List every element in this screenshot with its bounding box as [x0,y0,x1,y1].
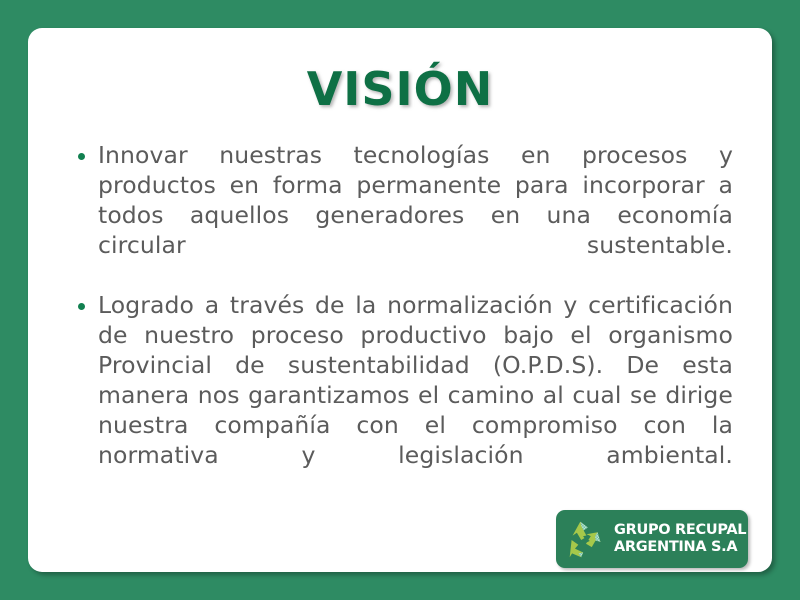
logo-line-2: ARGENTINA S.A [614,539,746,556]
recycle-icon [562,515,610,563]
page-title: VISIÓN [28,66,772,112]
list-item: Logrado a través de la normalización y c… [78,290,733,500]
company-logo: GRUPO RECUPAL ARGENTINA S.A [556,510,748,568]
bullet-marker-icon [78,140,98,160]
bullet-list: Innovar nuestras tecnologías en procesos… [78,140,733,500]
bullet-marker-icon [78,290,98,310]
slide-canvas: VISIÓN Innovar nuestras tecnologías en p… [0,0,800,600]
bullet-text: Logrado a través de la normalización y c… [98,290,733,500]
logo-line-1: GRUPO RECUPAL [614,522,746,538]
bullet-text: Innovar nuestras tecnologías en procesos… [98,140,733,290]
list-item: Innovar nuestras tecnologías en procesos… [78,140,733,290]
slide-card: VISIÓN Innovar nuestras tecnologías en p… [28,28,772,572]
logo-text: GRUPO RECUPAL ARGENTINA S.A [610,522,746,556]
